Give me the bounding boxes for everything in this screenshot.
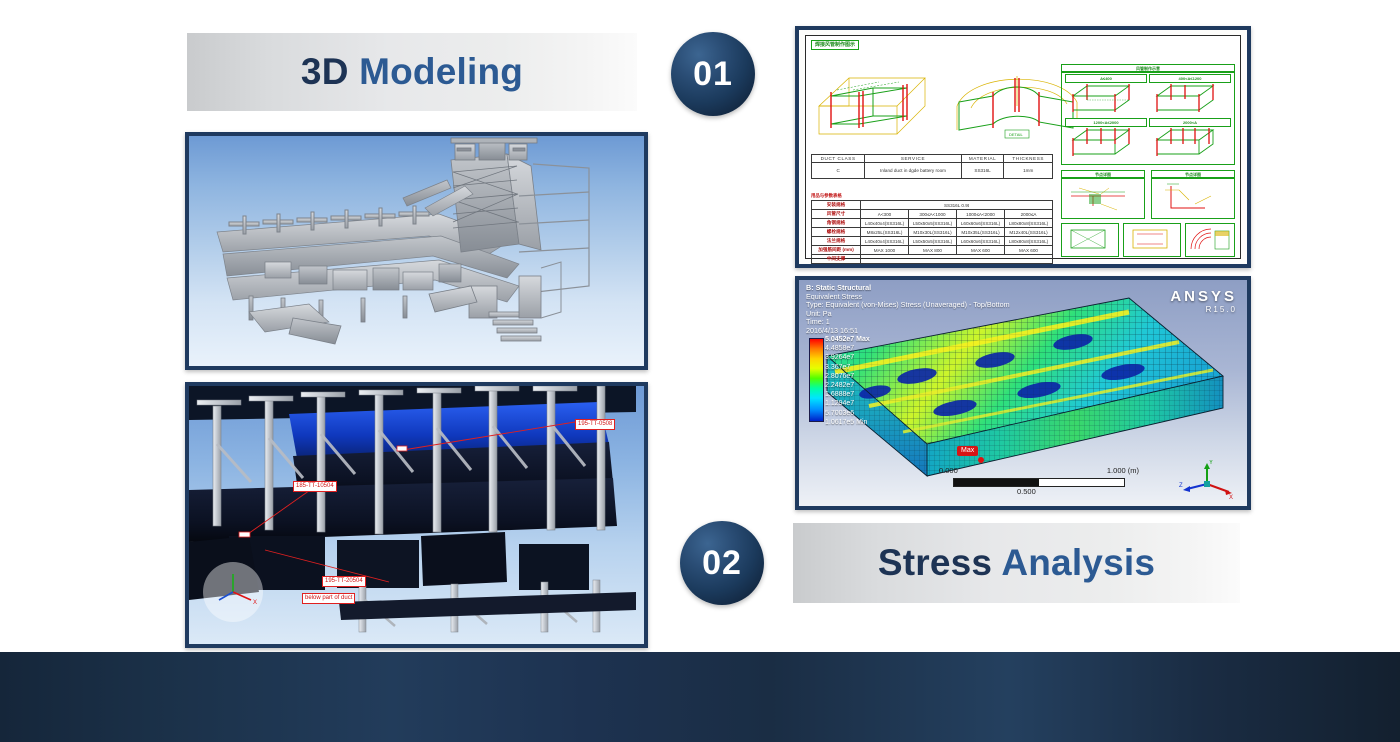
svg-text:X: X [253,600,257,606]
svg-text:DETAIL: DETAIL [1009,132,1023,137]
cad-canvas: 焊接风管制作图示 [799,30,1247,264]
cad-param-row: 风管尺寸A<300300≤A<10001000≤A<20002000≤A [812,210,1053,219]
legend-value-2: 3.9264e7 [825,353,870,362]
section-banner-stress-analysis: Stress Analysis [793,523,1240,603]
instrument-tag-1: 195-TT-0508 [575,419,615,430]
cad-param-cell [861,255,1053,264]
axis-triad-icon: Y X Z [1179,460,1235,500]
legend-values: 5.0452e7 Max 4.4858e7 3.9264e7 3.367e7 2… [825,335,870,427]
cad-param-cell: MAX 600 [1005,246,1053,255]
image-3d-model [185,132,648,370]
page-title-stress-analysis: Stress Analysis [878,542,1155,584]
iso-small-3 [1187,225,1231,253]
td-service: Inland duct in dgde battery room [865,163,961,179]
legend-value-6: 1.6888e7 [825,390,870,399]
cad-param-head: 风管尺寸 [812,210,861,219]
duct-scene-graphic: X [189,386,636,636]
cad-param-head: 加强筋间距 (mm) [812,246,861,255]
cad-param-cell: L40x40x4(SS316L) [861,237,909,246]
cad-param-cell: M8x25L(SS316L) [861,228,909,237]
cad-param-head: 法兰规格 [812,237,861,246]
cad-param-cell: L50x50x5(SS316L) [909,219,957,228]
image-fea-result: B: Static Structural Equivalent Stress T… [795,276,1251,510]
cad-param-cell: MAX 800 [909,246,957,255]
cad-param-head: 角钢规格 [812,219,861,228]
cad-param-cell: MAX 600 [957,246,1005,255]
legend-value-3: 3.367e7 [825,363,870,372]
cad-spec-note: 用品与参数表格 [811,193,842,199]
svg-text:Z: Z [1179,483,1183,489]
max-stress-label: Max [957,446,978,456]
cad-param-head: 螺栓规格 [812,228,861,237]
cad-param-row: 法兰规格L40x40x4(SS316L)L50x50x5(SS316L)L60x… [812,237,1053,246]
iso-panel-2 [1153,82,1225,116]
svg-text:X: X [1229,495,1233,500]
iso-duct-straight [813,62,935,144]
td-thickness: 1mm [1004,163,1053,179]
td-material: SS316L [961,163,1004,179]
legend-value-1: 4.4858e7 [825,344,870,353]
cad-param-cell: L80x80x8(SS316L) [1005,219,1053,228]
th-material: MATERIAL [961,155,1004,163]
fea-canvas: B: Static Structural Equivalent Stress T… [799,280,1247,506]
cad-param-cell: L50x50x5(SS316L) [909,237,957,246]
table-header-row: DUCT CLASS SERVICE MATERIAL THICKNESS [812,155,1053,163]
instrument-tag-2: 185-TT-10504 [293,481,337,492]
cad-param-row: 中间支撑 [812,255,1053,264]
legend-value-8: 5.7003e6 [825,409,870,418]
cad-param-cell: L60x60x6(SS316L) [957,237,1005,246]
legend-value-5: 2.2482e7 [825,381,870,390]
title-part-2: Analysis [1001,542,1155,583]
legend-value-0: 5.0452e7 Max [825,335,870,344]
section-number-badge-01: 01 [671,32,755,116]
svg-text:Y: Y [1209,460,1213,466]
cad-param-cell: L40x40x4(SS316L) [861,219,909,228]
section-number-label: 01 [693,55,733,94]
image-duct-installation: X 195-TT-0508 185-TT-10504 195-TT-20504 … [185,382,648,648]
cad-param-row: 角钢规格L40x40x4(SS316L)L50x50x5(SS316L)L60x… [812,219,1053,228]
scale-min: 0.000 [939,466,958,475]
cad-param-cell: SS316L 0.9t [861,201,1053,210]
iso-panel-4 [1153,126,1225,160]
instrument-tag-4: below part of duct [302,593,355,604]
cad-parameter-table: 安装规格SS316L 0.9t风管尺寸A<300300≤A<10001000≤A… [811,200,1053,268]
th-duct-class: DUCT CLASS [812,155,865,163]
iso-panel-3 [1069,126,1141,160]
section-banner-3d-modeling: 3D Modeling [187,33,637,111]
legend-value-4: 2.8076e7 [825,372,870,381]
scale-max: 1.000 (m) [1107,466,1139,475]
cad-spec-table: DUCT CLASS SERVICE MATERIAL THICKNESS C … [811,154,1053,179]
legend-value-9: 1.0617e5 Min [825,418,870,427]
td-duct-class: C [812,163,865,179]
page-title-3d-modeling: 3D Modeling [301,51,523,93]
cad-param-row: 补强方式 [812,264,1053,269]
title-part-1: Stress [878,542,1001,583]
cad-param-cell: MAX 1000 [861,246,909,255]
cad-param-head: 补强方式 [812,264,861,269]
section-number-badge-02: 02 [680,521,764,605]
cad-param-cell: 1000≤A<2000 [957,210,1005,219]
title-part-1: 3D [301,51,359,92]
legend-color-bar [809,338,824,422]
cad-param-head: 安装规格 [812,201,861,210]
cad-param-cell: L80x80x8(SS316L) [1005,237,1053,246]
cad-param-head: 中间支撑 [812,255,861,264]
th-thickness: THICKNESS [1004,155,1053,163]
title-part-2: Modeling [359,51,523,92]
cad-param-row: 螺栓规格M8x25L(SS316L)M10x30L(SS316L)M10x35L… [812,228,1053,237]
cad-param-cell: M10x35L(SS316L) [957,228,1005,237]
legend-value-7: 1.1294e7 [825,399,870,408]
cad-sheet-title: 焊接风管制作图示 [811,40,859,50]
iso-detail-2 [1155,180,1229,214]
slide-root: 3D Modeling 01 Stress Analysis 02 [0,0,1400,742]
iso-panel-1 [1069,82,1141,116]
section-number-label: 02 [702,544,742,583]
instrument-tag-3: 195-TT-20504 [322,576,366,587]
table-row: C Inland duct in dgde battery room SS316… [812,163,1053,179]
piping-model-graphic [189,136,636,358]
cad-param-cell: A<300 [861,210,909,219]
cad-param-cell: M10x30L(SS316L) [909,228,957,237]
footer-band [0,652,1400,742]
cad-param-cell: 2000≤A [1005,210,1053,219]
scale-bar-graphic [953,478,1125,487]
image-cad-drawing: 焊接风管制作图示 [795,26,1251,268]
cad-param-cell [861,264,1053,269]
iso-small-2 [1127,226,1175,252]
cad-param-cell: L60x60x6(SS316L) [957,219,1005,228]
scale-mid: 0.500 [1017,487,1036,496]
cad-param-cell: M12x40L(SS316L) [1005,228,1053,237]
iso-detail-1 [1065,180,1139,214]
iso-small-1 [1065,226,1113,252]
cad-param-row: 安装规格SS316L 0.9t [812,201,1053,210]
cad-param-row: 加强筋间距 (mm)MAX 1000MAX 800MAX 600MAX 600 [812,246,1053,255]
cad-param-cell: 300≤A<1000 [909,210,957,219]
th-service: SERVICE [865,155,961,163]
